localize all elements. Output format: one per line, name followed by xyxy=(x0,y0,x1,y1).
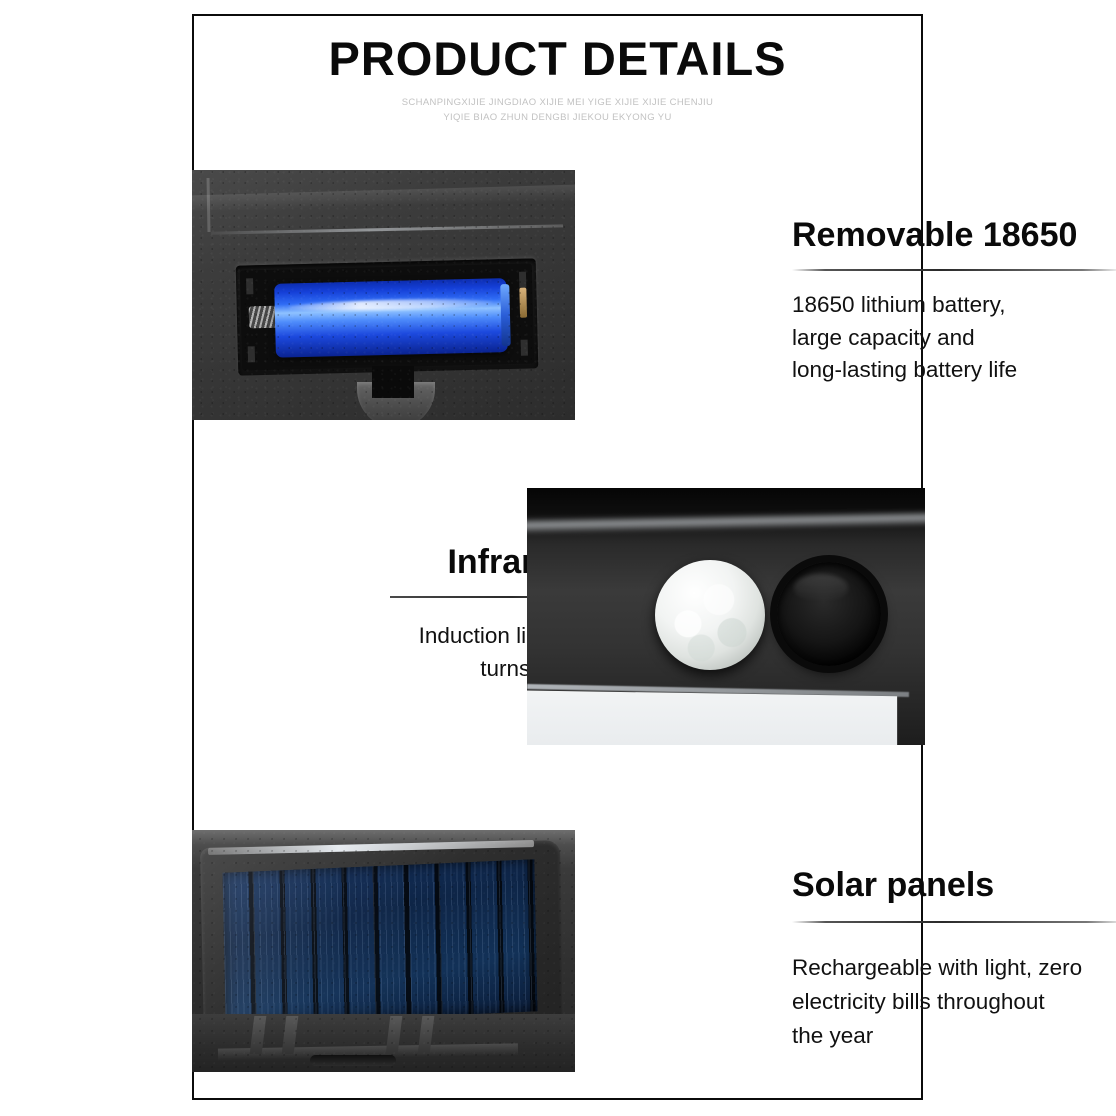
body-line: large capacity and xyxy=(792,322,1116,355)
light-sensor-gloss xyxy=(794,574,848,601)
lithium-cell-18650 xyxy=(274,278,508,358)
section-heading: Solar panels xyxy=(792,866,1116,905)
body-line: Rechargeable with light, zero xyxy=(792,951,1116,985)
housing-slot xyxy=(310,1055,396,1066)
body-line: long-lasting battery life xyxy=(792,354,1116,387)
header: PRODUCT DETAILS SCHANPINGXIJIE JINGDIAO … xyxy=(194,34,921,126)
subtitle-line-2: YIQIE BIAO ZHUN DENGBI JIEKOU EKYONG YU xyxy=(194,111,921,126)
section-heading: Removable 18650 xyxy=(792,216,1116,255)
section-body: 18650 lithium battery, large capacity an… xyxy=(792,289,1116,387)
pir-dome-lens xyxy=(655,560,765,670)
cell-positive-cap xyxy=(500,284,511,346)
section-divider xyxy=(792,269,1116,271)
body-line: electricity bills throughout xyxy=(792,985,1116,1019)
battery-positive-contact xyxy=(519,288,527,318)
section-divider xyxy=(792,921,1116,923)
bay-notch-bottom-right xyxy=(521,340,528,356)
body-line: 18650 lithium battery, xyxy=(792,289,1116,322)
solar-panel-photo xyxy=(192,830,575,1072)
light-sensor-lens xyxy=(777,562,881,666)
solar-cell-array xyxy=(223,859,538,1025)
bay-notch-bottom-left xyxy=(248,346,255,362)
bay-notch-top-left xyxy=(246,278,253,294)
section-text-removable-18650: Removable 18650 18650 lithium battery, l… xyxy=(792,216,1116,387)
pir-dome-facets xyxy=(655,560,765,670)
battery-bay xyxy=(236,258,539,375)
product-details-frame: PRODUCT DETAILS SCHANPINGXIJIE JINGDIAO … xyxy=(192,14,923,1100)
infrared-sensor-photo xyxy=(527,488,925,745)
subtitle-block: SCHANPINGXIJIE JINGDIAO XIJIE MEI YIGE X… xyxy=(194,96,921,125)
page-title: PRODUCT DETAILS xyxy=(194,34,921,83)
housing-base xyxy=(192,1014,575,1072)
section-text-solar-panels: Solar panels Rechargeable with light, ze… xyxy=(792,866,1116,1054)
solar-glass-sheen xyxy=(223,859,420,1025)
housing-dark-tab xyxy=(372,366,414,398)
cell-highlight xyxy=(289,298,493,313)
battery-compartment-photo xyxy=(192,170,575,420)
bay-notch-top-right xyxy=(519,272,526,288)
subtitle-line-1: SCHANPINGXIJIE JINGDIAO XIJIE MEI YIGE X… xyxy=(194,96,921,111)
battery-bay-inner xyxy=(240,263,534,370)
body-line: the year xyxy=(792,1019,1116,1053)
section-body: Rechargeable with light, zero electricit… xyxy=(792,951,1116,1054)
